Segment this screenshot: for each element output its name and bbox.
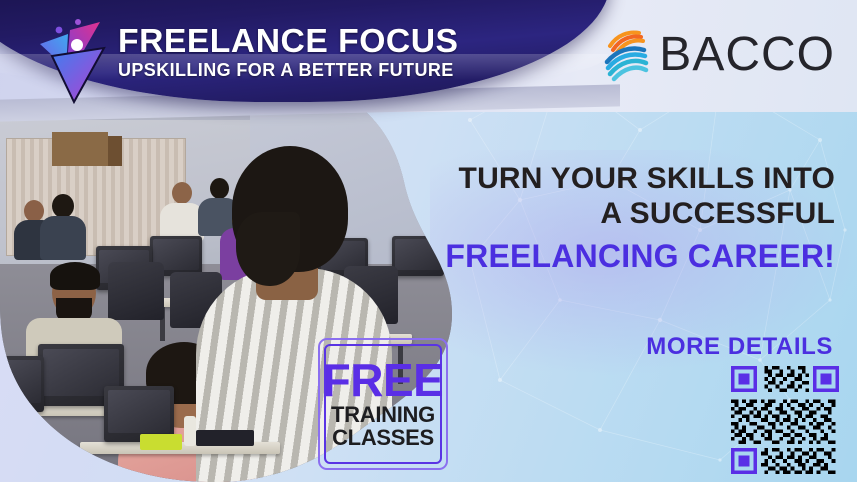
banner-header: FREELANCE FOCUS UPSKILLING FOR A BETTER … — [0, 0, 857, 112]
qr-code[interactable] — [731, 366, 839, 474]
free-training-badge: FREE TRAINING CLASSES — [318, 338, 448, 470]
promotional-banner: FREELANCE FOCUS UPSKILLING FOR A BETTER … — [0, 0, 857, 482]
brand-text-block: FREELANCE FOCUS UPSKILLING FOR A BETTER … — [118, 24, 454, 81]
headline-line-2: A SUCCESSFUL — [415, 197, 835, 232]
badge-classes-label: CLASSES — [332, 426, 434, 449]
banner-subtitle: UPSKILLING FOR A BETTER FUTURE — [118, 60, 454, 81]
headline-line-1: TURN YOUR SKILLS INTO — [415, 162, 835, 197]
bacco-logo: BACCO — [597, 26, 835, 84]
badge-training-label: TRAINING — [331, 403, 435, 426]
headline-line-3: FREELANCING CAREER! — [415, 236, 835, 278]
freelance-focus-arrow-logo — [32, 12, 112, 104]
more-details-label: MORE DETAILS — [646, 333, 833, 361]
headline-block: TURN YOUR SKILLS INTO A SUCCESSFUL FREEL… — [415, 162, 835, 277]
bacco-wordmark: BACCO — [659, 31, 835, 79]
banner-title: FREELANCE FOCUS — [118, 24, 460, 57]
bacco-wave-circle-icon — [597, 26, 653, 84]
badge-free-label: FREE — [323, 359, 444, 401]
